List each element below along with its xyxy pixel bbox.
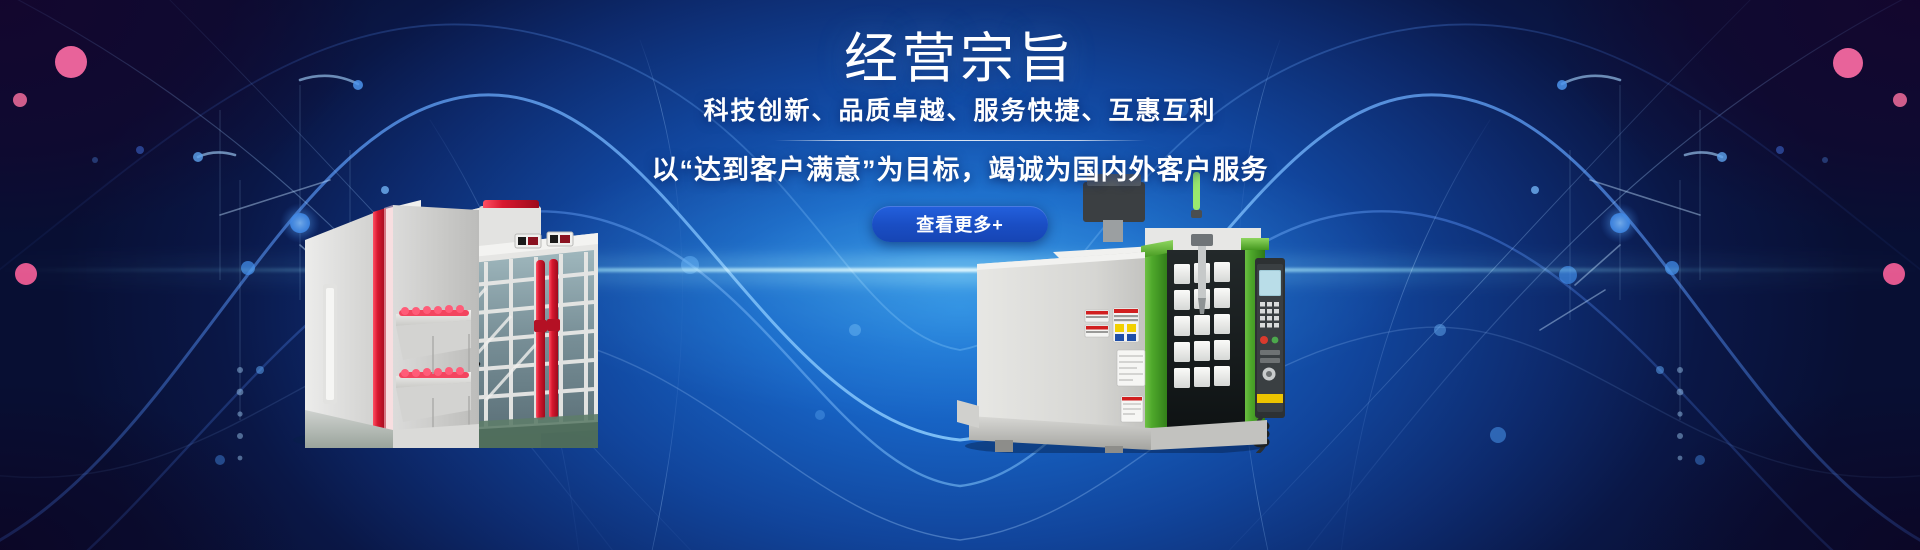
view-more-button[interactable]: 查看更多+ (872, 206, 1048, 242)
cnc-machine-left (283, 148, 598, 448)
promo-banner: 经营宗旨 科技创新、品质卓越、服务快捷、互惠互利 以“达到客户满意”为目标，竭诚… (0, 0, 1920, 550)
